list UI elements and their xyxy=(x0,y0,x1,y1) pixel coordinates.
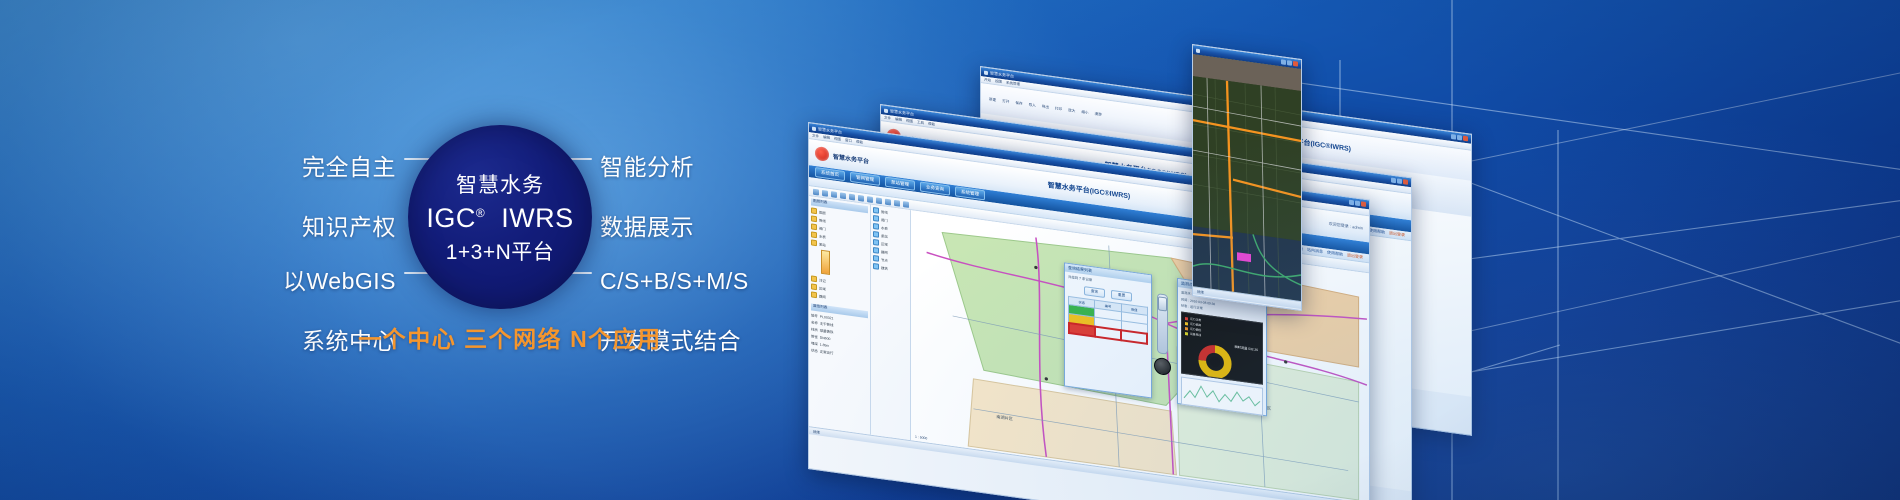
menu-item[interactable]: 帮助 xyxy=(928,121,935,127)
layer-toggle-icon xyxy=(873,247,879,254)
feature-label-bottom-left: 以WebGIS 系统中心 xyxy=(236,236,396,386)
folder-icon xyxy=(811,239,817,246)
quick-link[interactable]: 站内消息 xyxy=(1307,247,1323,255)
menu-item[interactable]: 文件 xyxy=(812,133,819,139)
app-window-satellite[interactable]: 就绪 xyxy=(1192,44,1302,311)
app-icon xyxy=(812,126,816,131)
layer-toggle-icon xyxy=(873,231,879,238)
close-icon xyxy=(1463,136,1468,142)
registered-icon: ® xyxy=(476,206,485,220)
logout-link[interactable]: 退出登录 xyxy=(1347,252,1363,260)
menu-item[interactable]: 视图 xyxy=(995,79,1002,85)
layer-toggle-icon xyxy=(873,255,879,262)
layer-toggle-icon xyxy=(873,207,879,214)
folder-icon xyxy=(811,291,817,298)
info-block: 完全自主 知识产权 以WebGIS 系统中心 智能分析 数据展示 C/S+B/S… xyxy=(0,0,860,500)
status-left: 就绪 xyxy=(813,429,820,435)
close-icon xyxy=(1361,201,1366,207)
menu-item[interactable]: 视图 xyxy=(834,136,841,142)
window-controls[interactable] xyxy=(1349,200,1366,207)
menu-item[interactable]: 帮助 xyxy=(856,139,863,145)
app-icon xyxy=(984,70,988,75)
print-icon xyxy=(876,197,882,204)
logout-link[interactable]: 退出登录 xyxy=(1389,230,1405,238)
refresh-icon xyxy=(903,201,909,208)
account-text: 欢迎您登录 : admin xyxy=(1329,221,1363,232)
platform-title: 智慧水务平台(IGC®IWRS) xyxy=(1048,180,1131,201)
folder-icon xyxy=(811,207,817,214)
popup-search-button[interactable]: 查询 xyxy=(1084,286,1105,298)
pointer-icon xyxy=(813,188,819,195)
tool-panel[interactable]: 管线 阀门 水表 泵站 区域 路网 节点 建筑 xyxy=(871,205,911,441)
feature-label-bottom-right: C/S+B/S+M/S 开发模式结合 xyxy=(600,236,800,386)
pan-icon xyxy=(840,192,846,199)
minimize-icon xyxy=(1451,134,1456,140)
feature-line-1: 以WebGIS xyxy=(236,266,396,296)
company-logo-icon xyxy=(815,146,829,162)
window-controls[interactable] xyxy=(1391,178,1408,185)
window-controls[interactable] xyxy=(1281,59,1298,66)
maximize-icon xyxy=(1457,135,1462,141)
layer-toggle-icon xyxy=(873,223,879,230)
maximize-icon xyxy=(1287,60,1292,66)
badge-iwrs: IWRS xyxy=(501,203,574,233)
badge-igc: IGC xyxy=(426,203,476,233)
folder-icon xyxy=(811,215,817,222)
layer-panel[interactable]: 图层列表 图层 管线 阀门 水表 泵站 注记 区域 路网 属性列表 编号PL00… xyxy=(809,196,871,435)
layer-toggle-icon xyxy=(873,239,879,246)
product-badge-circle: 智慧水务 IGC® IWRS 1+3+N平台 xyxy=(408,125,592,309)
feature-line-1: C/S+B/S+M/S xyxy=(600,266,800,296)
popup-reset-button[interactable]: 重置 xyxy=(1111,290,1132,302)
satellite-map[interactable] xyxy=(1193,54,1301,301)
folder-icon xyxy=(811,275,817,282)
app-icon xyxy=(1196,48,1200,53)
minimize-icon xyxy=(1349,200,1354,206)
status-left: 就绪 xyxy=(1197,289,1204,295)
query-result-popup[interactable]: 查询结果列表 共找到 7 条记录 查询 重置 状态 编号 数值 xyxy=(1064,262,1152,398)
menu-item[interactable]: 开始 xyxy=(984,77,991,83)
close-icon xyxy=(1293,61,1298,67)
zoom-slider[interactable] xyxy=(1157,293,1168,355)
layer-icon xyxy=(885,198,891,205)
badge-line-3: 1+3+N平台 xyxy=(446,236,555,266)
identify-icon xyxy=(867,196,873,203)
folder-icon xyxy=(811,223,817,230)
badge-line-2: IGC® IWRS xyxy=(426,203,573,234)
zoom-out-icon xyxy=(831,191,837,198)
tagline: 一个中心 三个网络 N个应用 xyxy=(300,320,720,354)
menu-item[interactable]: 编辑 xyxy=(823,135,830,141)
quick-link[interactable]: 使用帮助 xyxy=(1369,227,1385,235)
feature-line-1: 智能分析 xyxy=(600,152,800,182)
select-icon xyxy=(858,194,864,201)
brand-text: 智慧水务平台 xyxy=(833,151,869,165)
menu-item[interactable]: 编辑 xyxy=(895,117,902,123)
minimize-icon xyxy=(1391,178,1396,184)
zoom-in-icon xyxy=(822,189,828,196)
layer-toggle-icon xyxy=(873,215,879,222)
maximize-icon xyxy=(1397,178,1402,184)
gauge-widget: 压力正常 压力偏高 压力偏低 设备离线 瞬时流量 532.25 xyxy=(1181,311,1263,384)
close-icon xyxy=(1403,179,1408,185)
legend-ramp xyxy=(821,250,830,275)
screenshot-stack: 智慧水务平台 开始 视图 系统管理 新建打开保存 导入导出打印 放大缩小漫游 智… xyxy=(780,0,1900,500)
layer-toggle-icon xyxy=(873,263,879,270)
maximize-icon xyxy=(1355,200,1360,206)
app-icon xyxy=(884,108,888,113)
menu-item[interactable]: 视图 xyxy=(906,118,913,124)
popup-table: 状态 编号 数值 xyxy=(1068,296,1149,345)
banner-root: 完全自主 知识产权 以WebGIS 系统中心 智能分析 数据展示 C/S+B/S… xyxy=(0,0,1900,500)
search-icon xyxy=(894,199,900,206)
menu-item[interactable]: 工具 xyxy=(917,120,924,126)
folder-icon xyxy=(811,231,817,238)
window-controls[interactable] xyxy=(1451,134,1468,141)
menu-item[interactable]: 窗口 xyxy=(845,138,852,144)
minimize-icon xyxy=(1281,59,1286,65)
folder-icon xyxy=(811,283,817,290)
legend-item: 设备离线 xyxy=(1190,332,1201,338)
badge-line-1: 智慧水务 xyxy=(456,169,544,199)
measure-icon xyxy=(849,193,855,200)
quick-link[interactable]: 使用帮助 xyxy=(1327,250,1343,258)
feature-line-1: 完全自主 xyxy=(236,152,396,182)
menu-item[interactable]: 文件 xyxy=(884,115,891,121)
